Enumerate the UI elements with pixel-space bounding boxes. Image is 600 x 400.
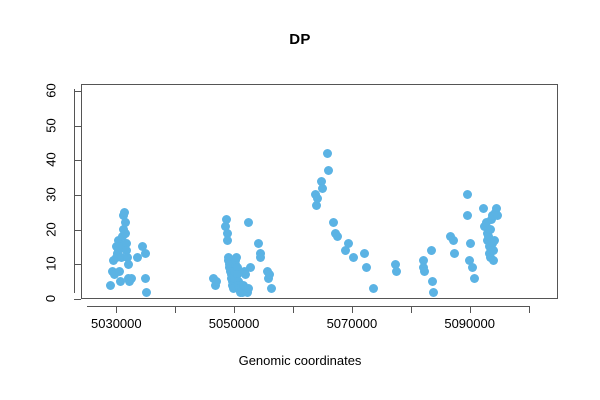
x-axis-tick — [234, 306, 235, 313]
data-point — [344, 239, 353, 248]
y-axis-tick-label: 50 — [40, 118, 62, 134]
y-axis-tick-label: 60 — [40, 83, 62, 99]
data-point — [223, 236, 232, 245]
y-axis-tick-label: 10 — [40, 256, 62, 272]
data-point — [489, 246, 498, 255]
data-point — [222, 215, 231, 224]
data-point — [141, 274, 150, 283]
data-point — [466, 239, 475, 248]
x-axis-tick-label: 5090000 — [420, 316, 520, 331]
data-point — [244, 284, 253, 293]
data-point — [267, 284, 276, 293]
y-axis-tick-label: 20 — [40, 222, 62, 238]
x-axis-tick — [116, 306, 117, 313]
data-point — [127, 274, 136, 283]
data-point — [256, 253, 265, 262]
x-axis-tick — [352, 306, 353, 313]
y-axis-tick — [74, 126, 81, 127]
y-axis-tick-label: 30 — [40, 187, 62, 203]
data-point — [362, 263, 371, 272]
scatter-plot: DP 0102030405060 50300005050000507000050… — [0, 0, 600, 400]
data-point — [463, 211, 472, 220]
x-axis-title: Genomic coordinates — [0, 353, 600, 368]
data-point — [141, 249, 150, 258]
y-axis-tick-label: 0 — [40, 291, 62, 307]
data-point — [313, 194, 322, 203]
data-point — [121, 218, 130, 227]
data-point — [360, 249, 369, 258]
data-point — [392, 267, 401, 276]
data-point — [232, 253, 241, 262]
x-axis-tick-label: 5050000 — [184, 316, 284, 331]
data-point — [121, 229, 130, 238]
y-axis-tick — [74, 195, 81, 196]
y-axis-tick — [74, 230, 81, 231]
x-axis-line — [87, 306, 529, 307]
data-point — [369, 284, 378, 293]
data-point — [349, 253, 358, 262]
data-point — [246, 263, 255, 272]
data-points-layer — [81, 84, 558, 299]
data-point — [254, 239, 263, 248]
y-axis-tick — [74, 264, 81, 265]
x-axis-tick — [411, 306, 412, 313]
data-point — [329, 218, 338, 227]
y-axis-tick — [74, 299, 81, 300]
data-point — [106, 281, 115, 290]
data-point — [324, 166, 333, 175]
data-point — [479, 204, 488, 213]
data-point — [490, 236, 499, 245]
data-point — [489, 256, 498, 265]
data-point — [420, 267, 429, 276]
x-axis-tick — [470, 306, 471, 313]
data-point — [470, 274, 479, 283]
data-point — [486, 225, 495, 234]
x-axis-tick-label: 5070000 — [302, 316, 402, 331]
y-axis-tick — [74, 160, 81, 161]
data-point — [115, 267, 124, 276]
x-axis-tick — [529, 306, 530, 313]
data-point — [244, 218, 253, 227]
data-point — [493, 211, 502, 220]
data-point — [124, 260, 133, 269]
data-point — [450, 249, 459, 258]
data-point — [428, 277, 437, 286]
data-point — [449, 236, 458, 245]
x-axis-tick — [293, 306, 294, 313]
data-point — [318, 184, 327, 193]
y-axis-tick-label: 40 — [40, 152, 62, 168]
y-axis-tick — [74, 91, 81, 92]
data-point — [323, 149, 332, 158]
data-point — [120, 208, 129, 217]
y-axis-line — [74, 89, 75, 293]
data-point — [429, 288, 438, 297]
data-point — [463, 190, 472, 199]
data-point — [468, 263, 477, 272]
data-point — [142, 288, 151, 297]
x-axis-tick — [175, 306, 176, 313]
x-axis-tick-label: 5030000 — [66, 316, 166, 331]
data-point — [333, 232, 342, 241]
page-title: DP — [0, 31, 600, 48]
data-point — [427, 246, 436, 255]
